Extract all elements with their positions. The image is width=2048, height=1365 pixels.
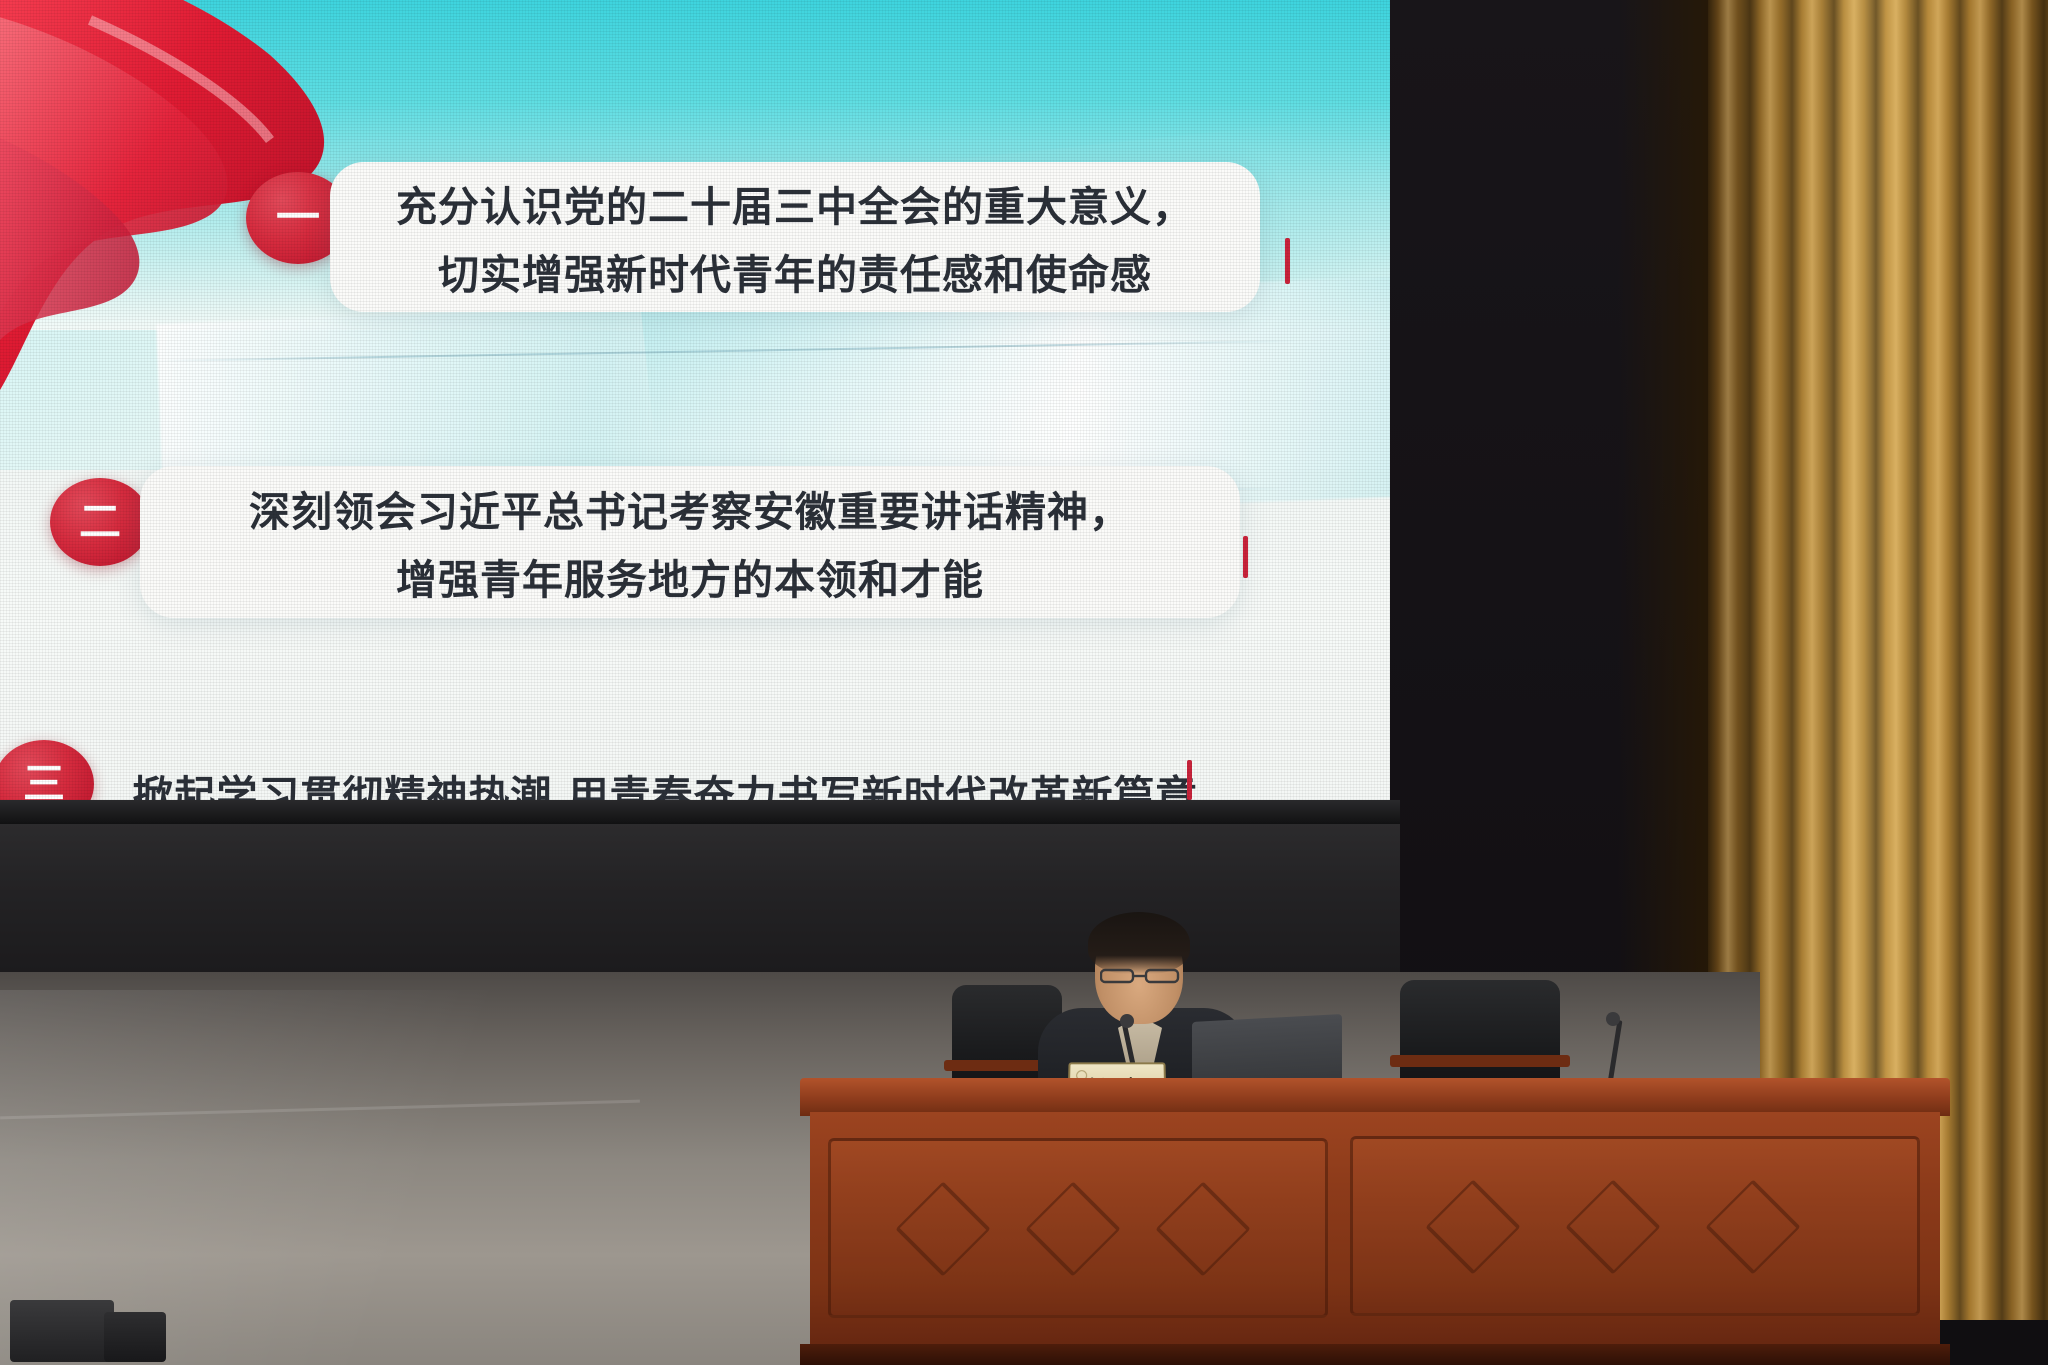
slide-line-3-1: 掀起学习贯彻精神热潮 用青春奋力书写新时代改革新篇章 — [132, 762, 1197, 800]
stage-monitor-speaker-2 — [104, 1312, 166, 1362]
slide-badge-1-label: 一 — [276, 196, 320, 240]
podium-table-front — [810, 1112, 1940, 1357]
led-presentation-screen: 一 充分认识党的二十届三中全会的重大意义， 切实增强新时代青年的责任感和使命感 … — [0, 0, 1390, 800]
podium-table-base — [800, 1344, 1950, 1365]
slide-card-1: 充分认识党的二十届三中全会的重大意义， 切实增强新时代青年的责任感和使命感 — [330, 162, 1260, 312]
slide-card-3: 掀起学习贯彻精神热潮 用青春奋力书写新时代改革新篇章 — [100, 752, 1230, 800]
stage-apron — [0, 824, 1400, 972]
stage-monitor-speaker — [10, 1300, 114, 1362]
glasses-icon — [1100, 968, 1180, 984]
slide-badge-2-label: 二 — [79, 501, 121, 543]
slide-line-1-2: 切实增强新时代青年的责任感和使命感 — [438, 241, 1152, 301]
slide-line-2-1: 深刻领会习近平总书记考察安徽重要讲话精神， — [249, 478, 1131, 538]
slide-tick-2 — [1243, 536, 1248, 578]
conference-hall-photo: 一 充分认识党的二十届三中全会的重大意义， 切实增强新时代青年的责任感和使命感 … — [0, 0, 2048, 1365]
slide-badge-2: 二 — [50, 478, 150, 566]
slide-badge-3-label: 三 — [23, 763, 65, 800]
podium-table-top — [800, 1078, 1950, 1116]
slide-tick-1 — [1285, 238, 1290, 284]
screen-bottom-frame — [0, 800, 1400, 824]
slide-card-2: 深刻领会习近平总书记考察安徽重要讲话精神， 增强青年服务地方的本领和才能 — [140, 466, 1240, 618]
speaker-hair — [1088, 912, 1190, 974]
slide-line-1-1: 充分认识党的二十届三中全会的重大意义， — [396, 173, 1194, 233]
slide-tick-3 — [1187, 760, 1192, 800]
microphone-head-icon — [1120, 1014, 1134, 1028]
microphone-head-icon-2 — [1606, 1012, 1620, 1026]
chair-right-arm — [1390, 1055, 1570, 1067]
slide-line-2-2: 增强青年服务地方的本领和才能 — [396, 546, 984, 606]
